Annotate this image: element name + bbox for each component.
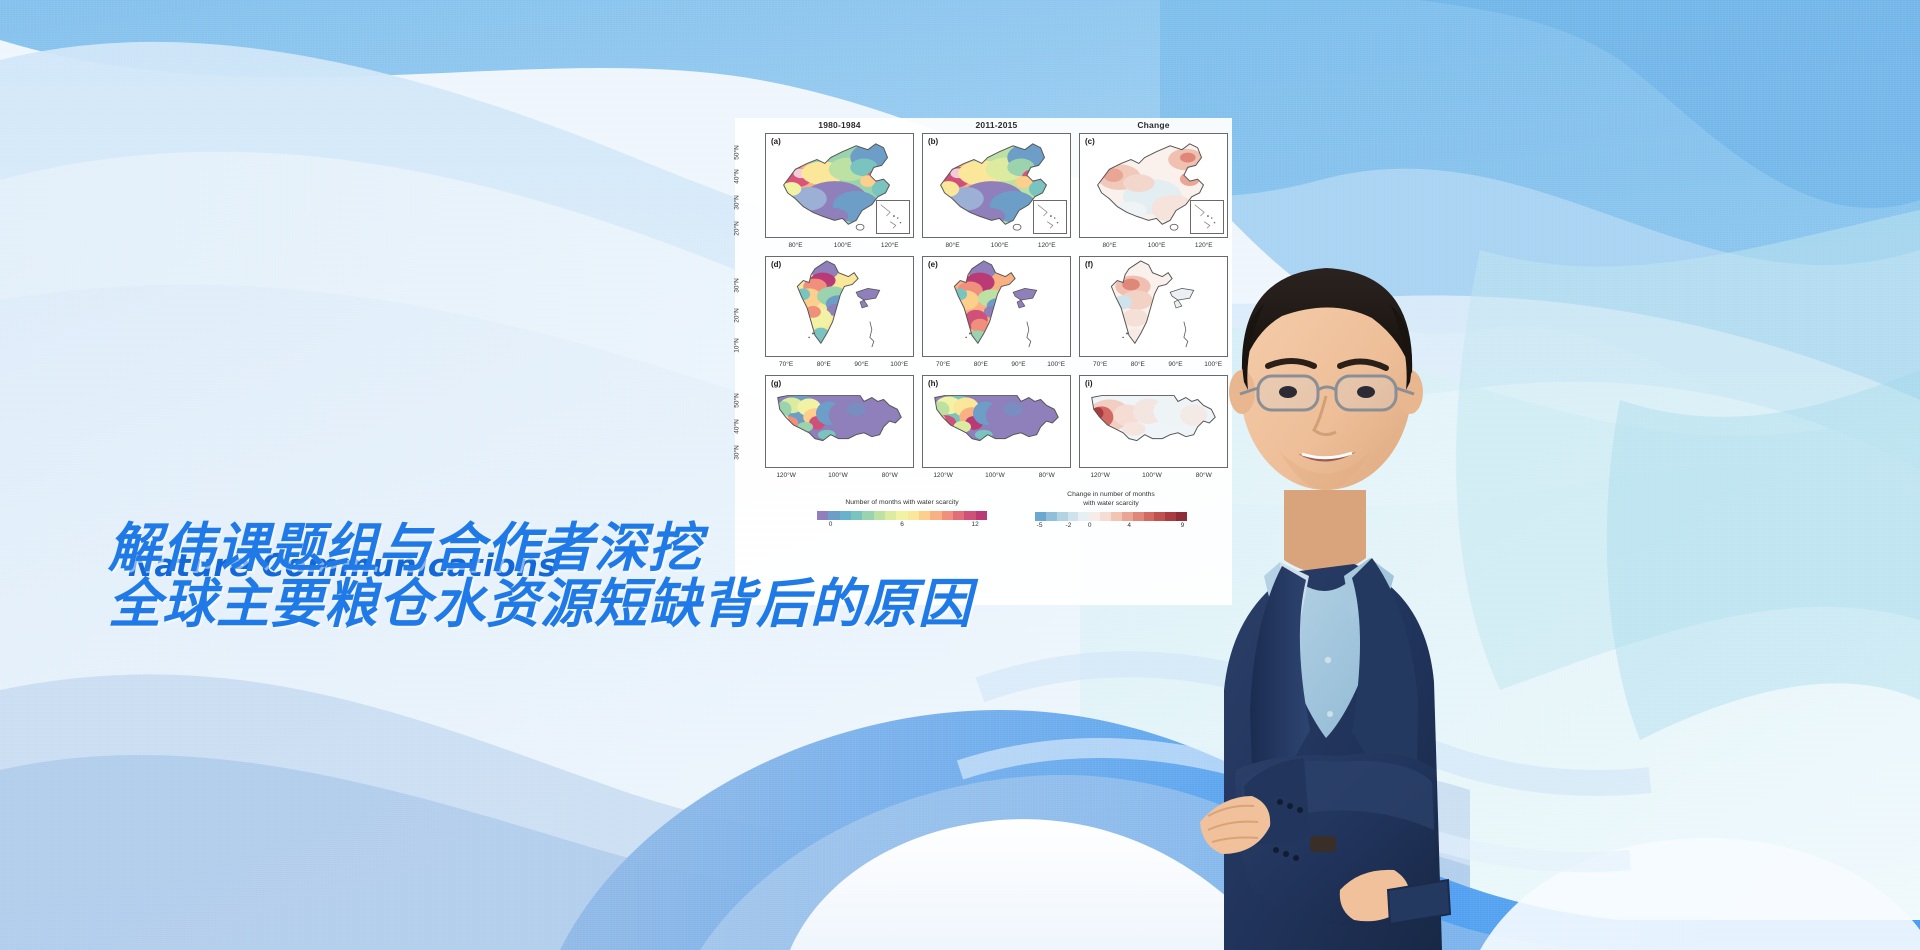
map-cell-usa-1980: (g) <box>761 375 918 471</box>
panel-label-d: (d) <box>771 260 781 269</box>
panel-label-b: (b) <box>928 137 938 146</box>
panel-label-f: (f) <box>1085 260 1093 269</box>
map-cell-india-1980: (d) <box>761 256 918 360</box>
headline-line-1: 解伟课题组与合作者深挖 <box>108 520 702 578</box>
ytick-usa-0: 30°N <box>734 445 741 460</box>
xtick-in-e-3: 100°E <box>1047 361 1065 368</box>
column-header-change: Change <box>1075 118 1232 133</box>
map-inset-china-change <box>1190 200 1224 234</box>
xaxis-india-2011: 70°E 80°E 90°E 100°E <box>918 360 1075 373</box>
panel-label-g: (g) <box>771 379 781 388</box>
colorbar-swatch-5 <box>874 511 885 520</box>
colorbar-swatch-0 <box>1035 512 1046 521</box>
xtick-in-e-1: 80°E <box>974 361 988 368</box>
xtick-us-h-2: 80°W <box>1039 472 1055 479</box>
xaxis-china-2011: 80°E 100°E 120°E <box>918 241 1075 254</box>
map-inset-china-1980 <box>876 200 910 234</box>
xtick-us-g-0: 120°W <box>776 472 796 479</box>
colorbar-swatch-1 <box>828 511 839 520</box>
inset-svg <box>1191 201 1223 233</box>
usa-map-1980 <box>766 376 913 467</box>
colorbar-months <box>817 511 987 520</box>
colorbar-swatch-3 <box>851 511 862 520</box>
xtick-us-g-1: 100°W <box>828 472 848 479</box>
ytick-india-0: 10°N <box>734 338 741 353</box>
xtick-in-d-3: 100°E <box>890 361 908 368</box>
panel-label-i: (i) <box>1085 379 1093 388</box>
xtick-cn-b-2: 120°E <box>1038 242 1056 249</box>
xtick-in-d-0: 70°E <box>779 361 793 368</box>
ytick-china-2: 40°N <box>734 169 741 184</box>
cbar-tick-change-1: -2 <box>1066 522 1072 529</box>
panel-label-c: (c) <box>1085 137 1095 146</box>
india-map-2011 <box>923 257 1070 356</box>
map-inset-china-2011 <box>1033 200 1067 234</box>
xtick-cn-a-1: 100°E <box>834 242 852 249</box>
xtick-us-g-2: 80°W <box>882 472 898 479</box>
xtick-us-h-1: 100°W <box>985 472 1005 479</box>
map-cell-china-1980: (a) <box>761 133 918 241</box>
yaxis-india: 10°N 20°N 30°N <box>735 256 761 360</box>
map-cell-india-2011: (e) <box>918 256 1075 360</box>
xtick-cn-a-0: 80°E <box>788 242 802 249</box>
yaxis-china: 20°N 30°N 40°N 50°N <box>735 133 761 241</box>
colorbar-swatch-12 <box>953 511 964 520</box>
colorbar-swatch-8 <box>908 511 919 520</box>
column-header-period2: 2011-2015 <box>918 118 1075 133</box>
cbar-tick-months-2: 12 <box>971 521 978 528</box>
banner-hero: 1980-1984 2011-2015 Change 20°N 30°N 40°… <box>0 0 1920 950</box>
colorbar-swatch-4 <box>862 511 873 520</box>
inset-svg <box>877 201 909 233</box>
colorbar-swatch-5 <box>1089 512 1100 521</box>
xtick-cn-b-1: 100°E <box>991 242 1009 249</box>
cbar-tick-months-1: 6 <box>900 521 904 528</box>
colorbar-swatch-10 <box>930 511 941 520</box>
researcher-portrait <box>1104 190 1544 950</box>
xtick-in-e-2: 90°E <box>1011 361 1025 368</box>
xaxis-china-1980: 80°E 100°E 120°E <box>761 241 918 254</box>
ytick-india-2: 30°N <box>734 278 741 293</box>
colorbar-swatch-4 <box>1078 512 1089 521</box>
cbar-tick-change-0: -5 <box>1037 522 1043 529</box>
column-header-period1: 1980-1984 <box>761 118 918 133</box>
ytick-india-1: 20°N <box>734 308 741 323</box>
xaxis-india-1980: 70°E 80°E 90°E 100°E <box>761 360 918 373</box>
inset-svg <box>1034 201 1066 233</box>
xtick-cn-a-2: 120°E <box>881 242 899 249</box>
colorbar-ticks-months: 0 6 12 <box>817 521 987 532</box>
map-cell-usa-2011: (h) <box>918 375 1075 471</box>
ytick-china-3: 50°N <box>734 145 741 160</box>
portrait-svg <box>1104 190 1544 950</box>
panel-label-h: (h) <box>928 379 938 388</box>
xtick-in-d-2: 90°E <box>854 361 868 368</box>
colorbar-swatch-13 <box>964 511 975 520</box>
colorbar-swatch-14 <box>976 511 987 520</box>
colorbar-swatch-0 <box>817 511 828 520</box>
xtick-in-d-1: 80°E <box>817 361 831 368</box>
xtick-us-h-0: 120°W <box>933 472 953 479</box>
colorbar-swatch-2 <box>1057 512 1068 521</box>
colorbar-swatch-11 <box>942 511 953 520</box>
figure-column-headers: 1980-1984 2011-2015 Change <box>735 118 1232 133</box>
xtick-in-e-0: 70°E <box>936 361 950 368</box>
headline-line-2: 全球主要粮仓水资源短缺背后的原因 <box>108 576 972 634</box>
colorbar-swatch-3 <box>1068 512 1079 521</box>
colorbar-swatch-7 <box>896 511 907 520</box>
colorbar-swatch-1 <box>1046 512 1057 521</box>
colorbar-swatch-6 <box>885 511 896 520</box>
india-map-1980 <box>766 257 913 356</box>
xtick-cn-b-0: 80°E <box>945 242 959 249</box>
colorbar-swatch-2 <box>840 511 851 520</box>
ytick-china-0: 20°N <box>734 221 741 236</box>
ytick-china-1: 30°N <box>734 195 741 210</box>
yaxis-usa: 30°N 40°N 50°N <box>735 375 761 471</box>
xaxis-usa-2011: 120°W 100°W 80°W <box>918 471 1075 484</box>
cbar-tick-change-2: 0 <box>1088 522 1092 529</box>
ytick-usa-2: 50°N <box>734 393 741 408</box>
usa-map-2011 <box>923 376 1070 467</box>
cbar-tick-months-0: 0 <box>829 521 833 528</box>
colorbar-swatch-9 <box>919 511 930 520</box>
legend-title-months: Number of months with water scarcity <box>817 498 987 507</box>
ytick-usa-1: 40°N <box>734 419 741 434</box>
legend-months-with-water-scarcity: Number of months with water scarcity 0 6… <box>817 498 987 532</box>
panel-label-a: (a) <box>771 137 781 146</box>
panel-label-e: (e) <box>928 260 938 269</box>
xaxis-usa-1980: 120°W 100°W 80°W <box>761 471 918 484</box>
map-cell-china-2011: (b) <box>918 133 1075 241</box>
